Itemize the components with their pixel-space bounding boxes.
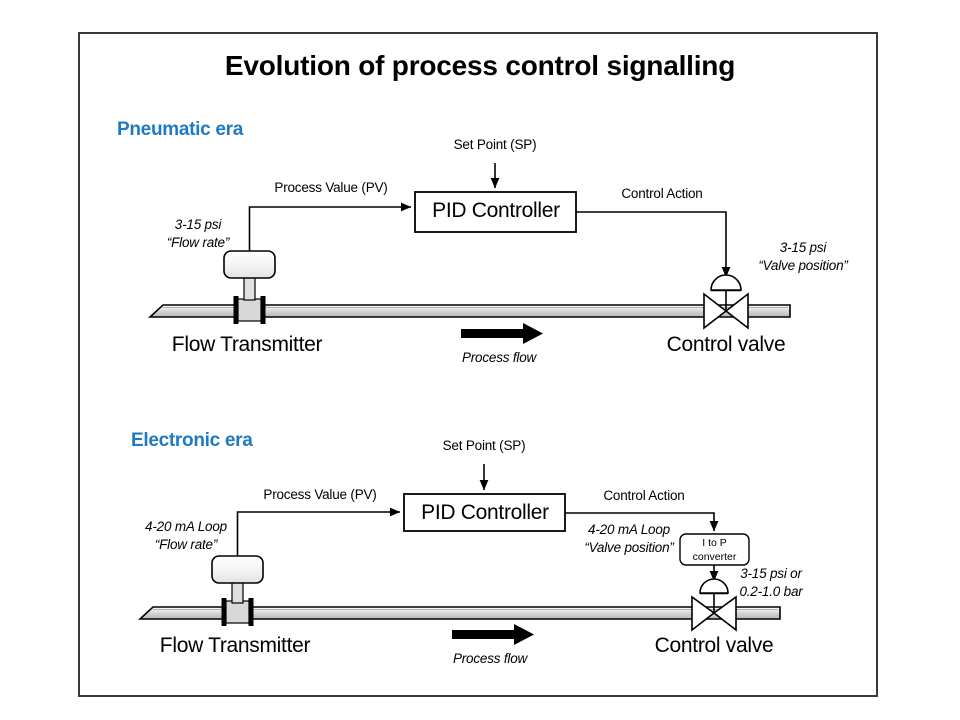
section-heading-electronic: Electronic era — [131, 430, 252, 452]
transmitter-signal-bottom-line1: 4-20 mA Loop — [145, 518, 227, 536]
pv-label-bottom: Process Value (PV) — [263, 487, 376, 502]
flange-left-bottom — [222, 598, 227, 626]
setpoint-label-bottom: Set Point (SP) — [443, 438, 526, 453]
valve-signal-top: 3-15 psi “Valve position” — [758, 239, 847, 275]
i-to-p-converter-label-line1: I to P — [693, 537, 737, 551]
transmitter-signal-bottom-line2: “Flow rate” — [145, 536, 227, 554]
valve-right-triangle-bottom — [714, 597, 736, 630]
flow-transmitter-label-top: Flow Transmitter — [172, 333, 322, 357]
valve-signal-bottom-line2: “Valve position” — [584, 539, 673, 557]
section-heading-pneumatic: Pneumatic era — [117, 119, 243, 141]
transmitter-signal-top-line2: “Flow rate” — [167, 234, 229, 252]
pv-signal-line-top — [250, 207, 412, 251]
flow-transmitter-label-bottom: Flow Transmitter — [160, 634, 310, 658]
valve-signal-top-line2: “Valve position” — [758, 257, 847, 275]
i-to-p-converter-label-line2: converter — [693, 551, 737, 565]
control-valve-top[interactable] — [704, 275, 748, 328]
valve-right-triangle-top — [726, 294, 748, 328]
process-flow-label-bottom: Process flow — [453, 650, 527, 668]
control-valve-label-top: Control valve — [667, 333, 786, 357]
converter-output-signal: 3-15 psi or 0.2-1.0 bar — [739, 565, 802, 601]
i-to-p-converter-label: I to P converter — [693, 537, 737, 564]
valve-signal-bottom: 4-20 mA Loop “Valve position” — [584, 521, 673, 557]
setpoint-label-top: Set Point (SP) — [454, 137, 537, 152]
orifice-plate-top — [238, 299, 261, 321]
valve-actuator-top — [711, 275, 741, 290]
converter-output-signal-line1: 3-15 psi or — [739, 565, 802, 583]
orifice-plate-bottom — [226, 601, 249, 623]
process-flow-arrow-top — [461, 323, 543, 344]
slide-canvas: Evolution of process control signalling … — [0, 0, 960, 720]
pv-signal-line-bottom — [238, 512, 401, 556]
process-flow-arrow-bottom — [452, 624, 534, 645]
transmitter-signal-top-line1: 3-15 psi — [167, 216, 229, 234]
transmitter-body-top — [224, 251, 275, 278]
transmitter-body-bottom — [212, 556, 263, 583]
valve-signal-bottom-line1: 4-20 mA Loop — [584, 521, 673, 539]
valve-signal-top-line1: 3-15 psi — [758, 239, 847, 257]
transmitter-signal-bottom: 4-20 mA Loop “Flow rate” — [145, 518, 227, 554]
control-action-line-top — [576, 212, 726, 277]
control-action-label-bottom: Control Action — [603, 488, 684, 503]
valve-left-triangle-top — [704, 294, 726, 328]
converter-output-signal-line2: 0.2-1.0 bar — [739, 583, 802, 601]
transmitter-stem-bottom — [232, 581, 243, 603]
transmitter-signal-top: 3-15 psi “Flow rate” — [167, 216, 229, 252]
flange-left-top — [234, 296, 239, 324]
process-flow-label-top: Process flow — [462, 349, 536, 367]
pid-controller-label-bottom: PID Controller — [421, 501, 549, 525]
page-title: Evolution of process control signalling — [0, 50, 960, 82]
control-valve-label-bottom: Control valve — [655, 634, 774, 658]
pid-controller-label-top: PID Controller — [432, 199, 560, 223]
pv-label-top: Process Value (PV) — [274, 180, 387, 195]
valve-actuator-bottom — [700, 579, 728, 593]
control-valve-bottom[interactable] — [692, 579, 736, 630]
flange-right-bottom — [249, 598, 254, 626]
flange-right-top — [261, 296, 266, 324]
valve-left-triangle-bottom — [692, 597, 714, 630]
control-action-label-top: Control Action — [621, 186, 702, 201]
